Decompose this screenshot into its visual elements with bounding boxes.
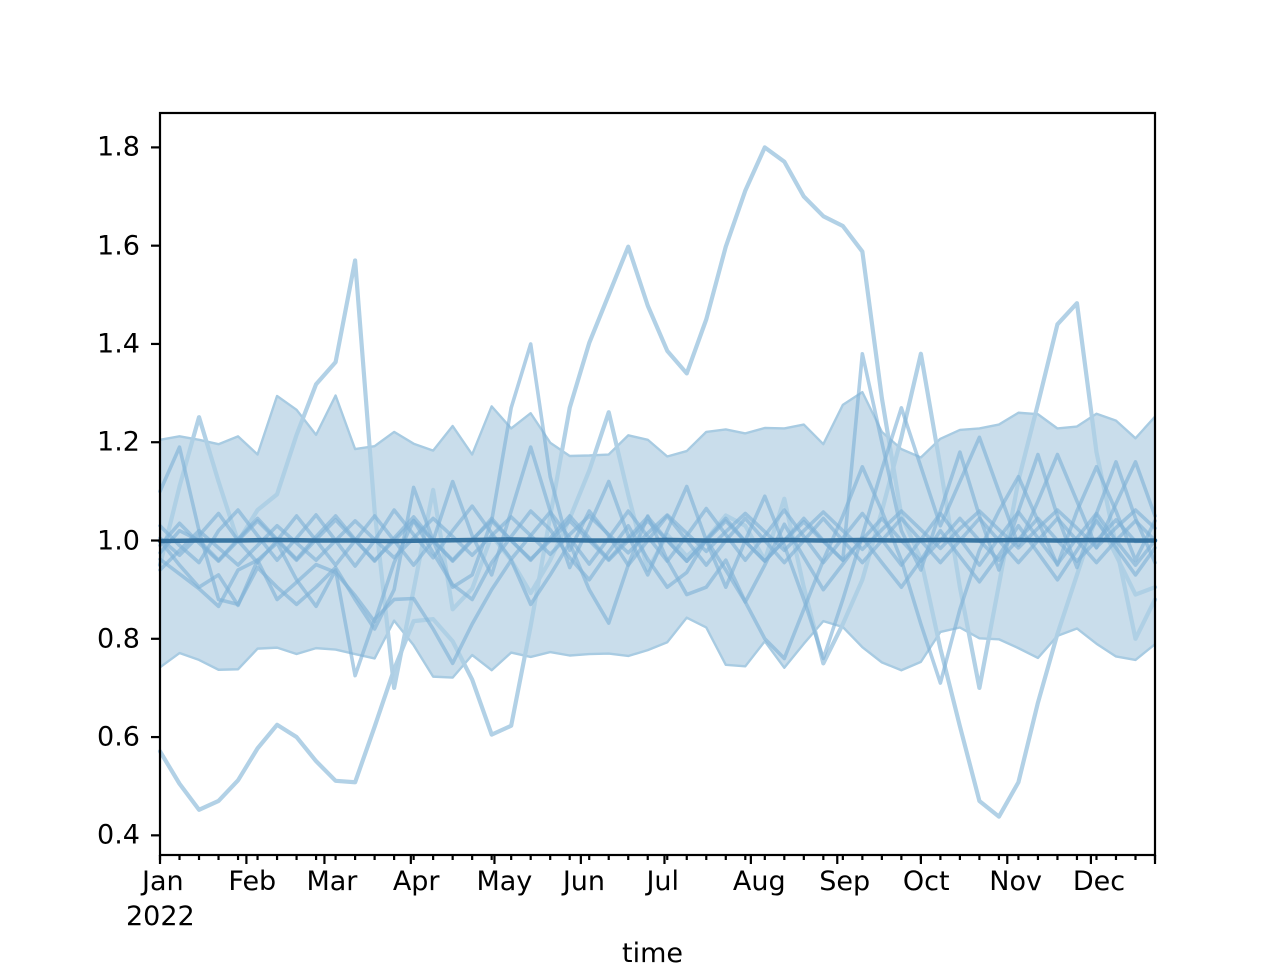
x-tick-label: Sep <box>819 866 870 897</box>
x-tick-label: Aug <box>733 866 786 897</box>
x-tick-label: Jun <box>563 866 605 897</box>
y-tick-label: 0.4 <box>0 820 140 851</box>
x-tick-label: May <box>476 866 532 897</box>
chart-plot-area <box>0 0 1280 960</box>
x-tick-label: Jul <box>646 866 679 897</box>
y-tick-label: 1.6 <box>0 230 140 261</box>
x-tick-label: Apr <box>393 866 440 897</box>
y-tick-label: 1.8 <box>0 132 140 163</box>
mean-line <box>160 540 1155 541</box>
y-tick-label: 1.0 <box>0 525 140 556</box>
x-axis-year-label: 2022 <box>126 901 195 932</box>
x-axis-title: time <box>622 938 683 969</box>
x-tick-label: Dec <box>1073 866 1125 897</box>
x-tick-label: Nov <box>989 866 1042 897</box>
y-tick-label: 1.4 <box>0 328 140 359</box>
y-tick-label: 1.2 <box>0 427 140 458</box>
y-tick-label: 0.6 <box>0 722 140 753</box>
figure-canvas: 0.40.60.81.01.21.41.61.8 JanFebMarAprMay… <box>0 0 1280 960</box>
x-tick-label: Jan <box>142 866 184 897</box>
x-tick-label: Mar <box>306 866 357 897</box>
x-tick-label: Oct <box>903 866 950 897</box>
x-tick-label: Feb <box>228 866 276 897</box>
y-tick-label: 0.8 <box>0 623 140 654</box>
